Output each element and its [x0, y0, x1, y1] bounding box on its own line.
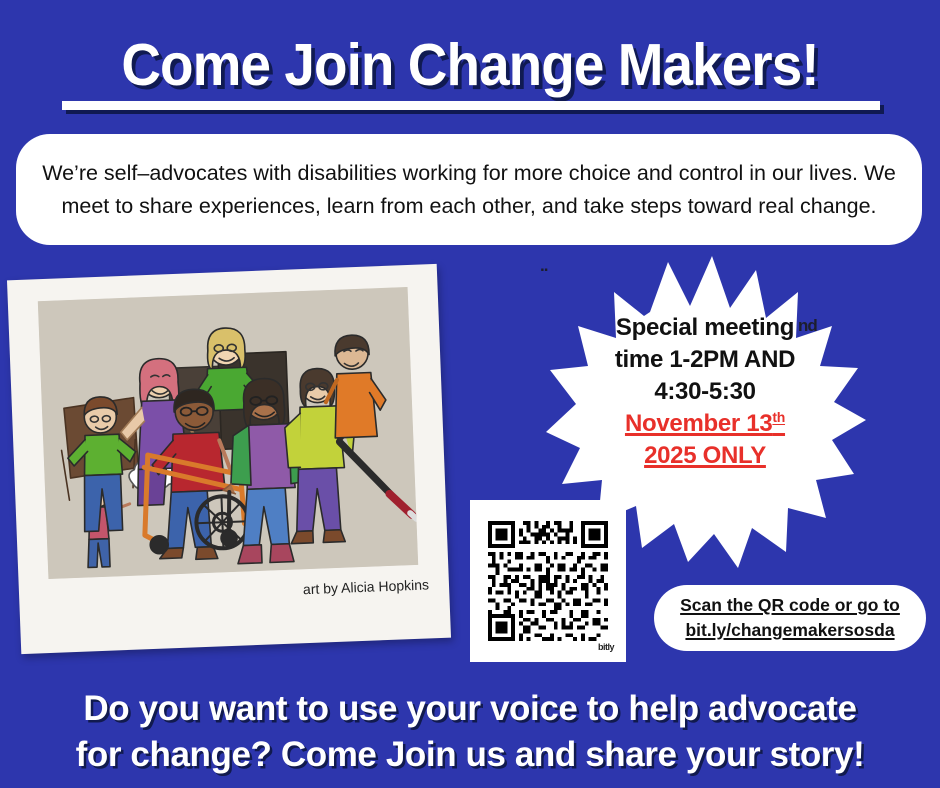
bitly-brand-label: bitly [598, 642, 614, 652]
artwork-credit: art by Alicia Hopkins [19, 576, 429, 608]
poster-canvas: Come Join Change Makers! We’re self–advo… [0, 0, 940, 788]
intro-description-text: We’re self–advocates with disabilities w… [42, 157, 896, 222]
meeting-line-3: 4:30-5:30 [568, 376, 842, 408]
meeting-date-text: November 13 [625, 410, 772, 437]
cta-line-1: Do you want to use your voice to help ad… [0, 686, 940, 732]
meeting-year: 2025 ONLY [568, 440, 842, 472]
scan-url-link[interactable]: bit.ly/changemakersosda [685, 618, 894, 643]
polaroid-photo-frame: art by Alicia Hopkins [7, 264, 451, 654]
title-underline-rule [62, 101, 880, 110]
artwork-image [38, 287, 418, 579]
scan-instructions-card[interactable]: Scan the QR code or go to bit.ly/changem… [654, 585, 926, 651]
erased-text-artifact-left: .. [540, 256, 547, 276]
starburst-text-block: Special meeting time 1-2PM AND 4:30-5:30… [568, 312, 842, 472]
meeting-line-1: Special meeting [568, 312, 842, 344]
meeting-date: November 13th [568, 408, 842, 440]
meeting-line-2: time 1-2PM AND [568, 344, 842, 376]
meeting-date-ordinal: th [772, 409, 785, 425]
qr-code-icon[interactable] [484, 517, 612, 645]
page-title: Come Join Change Makers! [33, 36, 907, 95]
scan-instruction-line-1: Scan the QR code or go to [680, 593, 900, 618]
call-to-action: Do you want to use your voice to help ad… [0, 686, 940, 778]
qr-code-card[interactable]: bitly [470, 500, 626, 662]
cta-line-2: for change? Come Join us and share your … [0, 732, 940, 778]
intro-description-card: We’re self–advocates with disabilities w… [16, 134, 922, 245]
